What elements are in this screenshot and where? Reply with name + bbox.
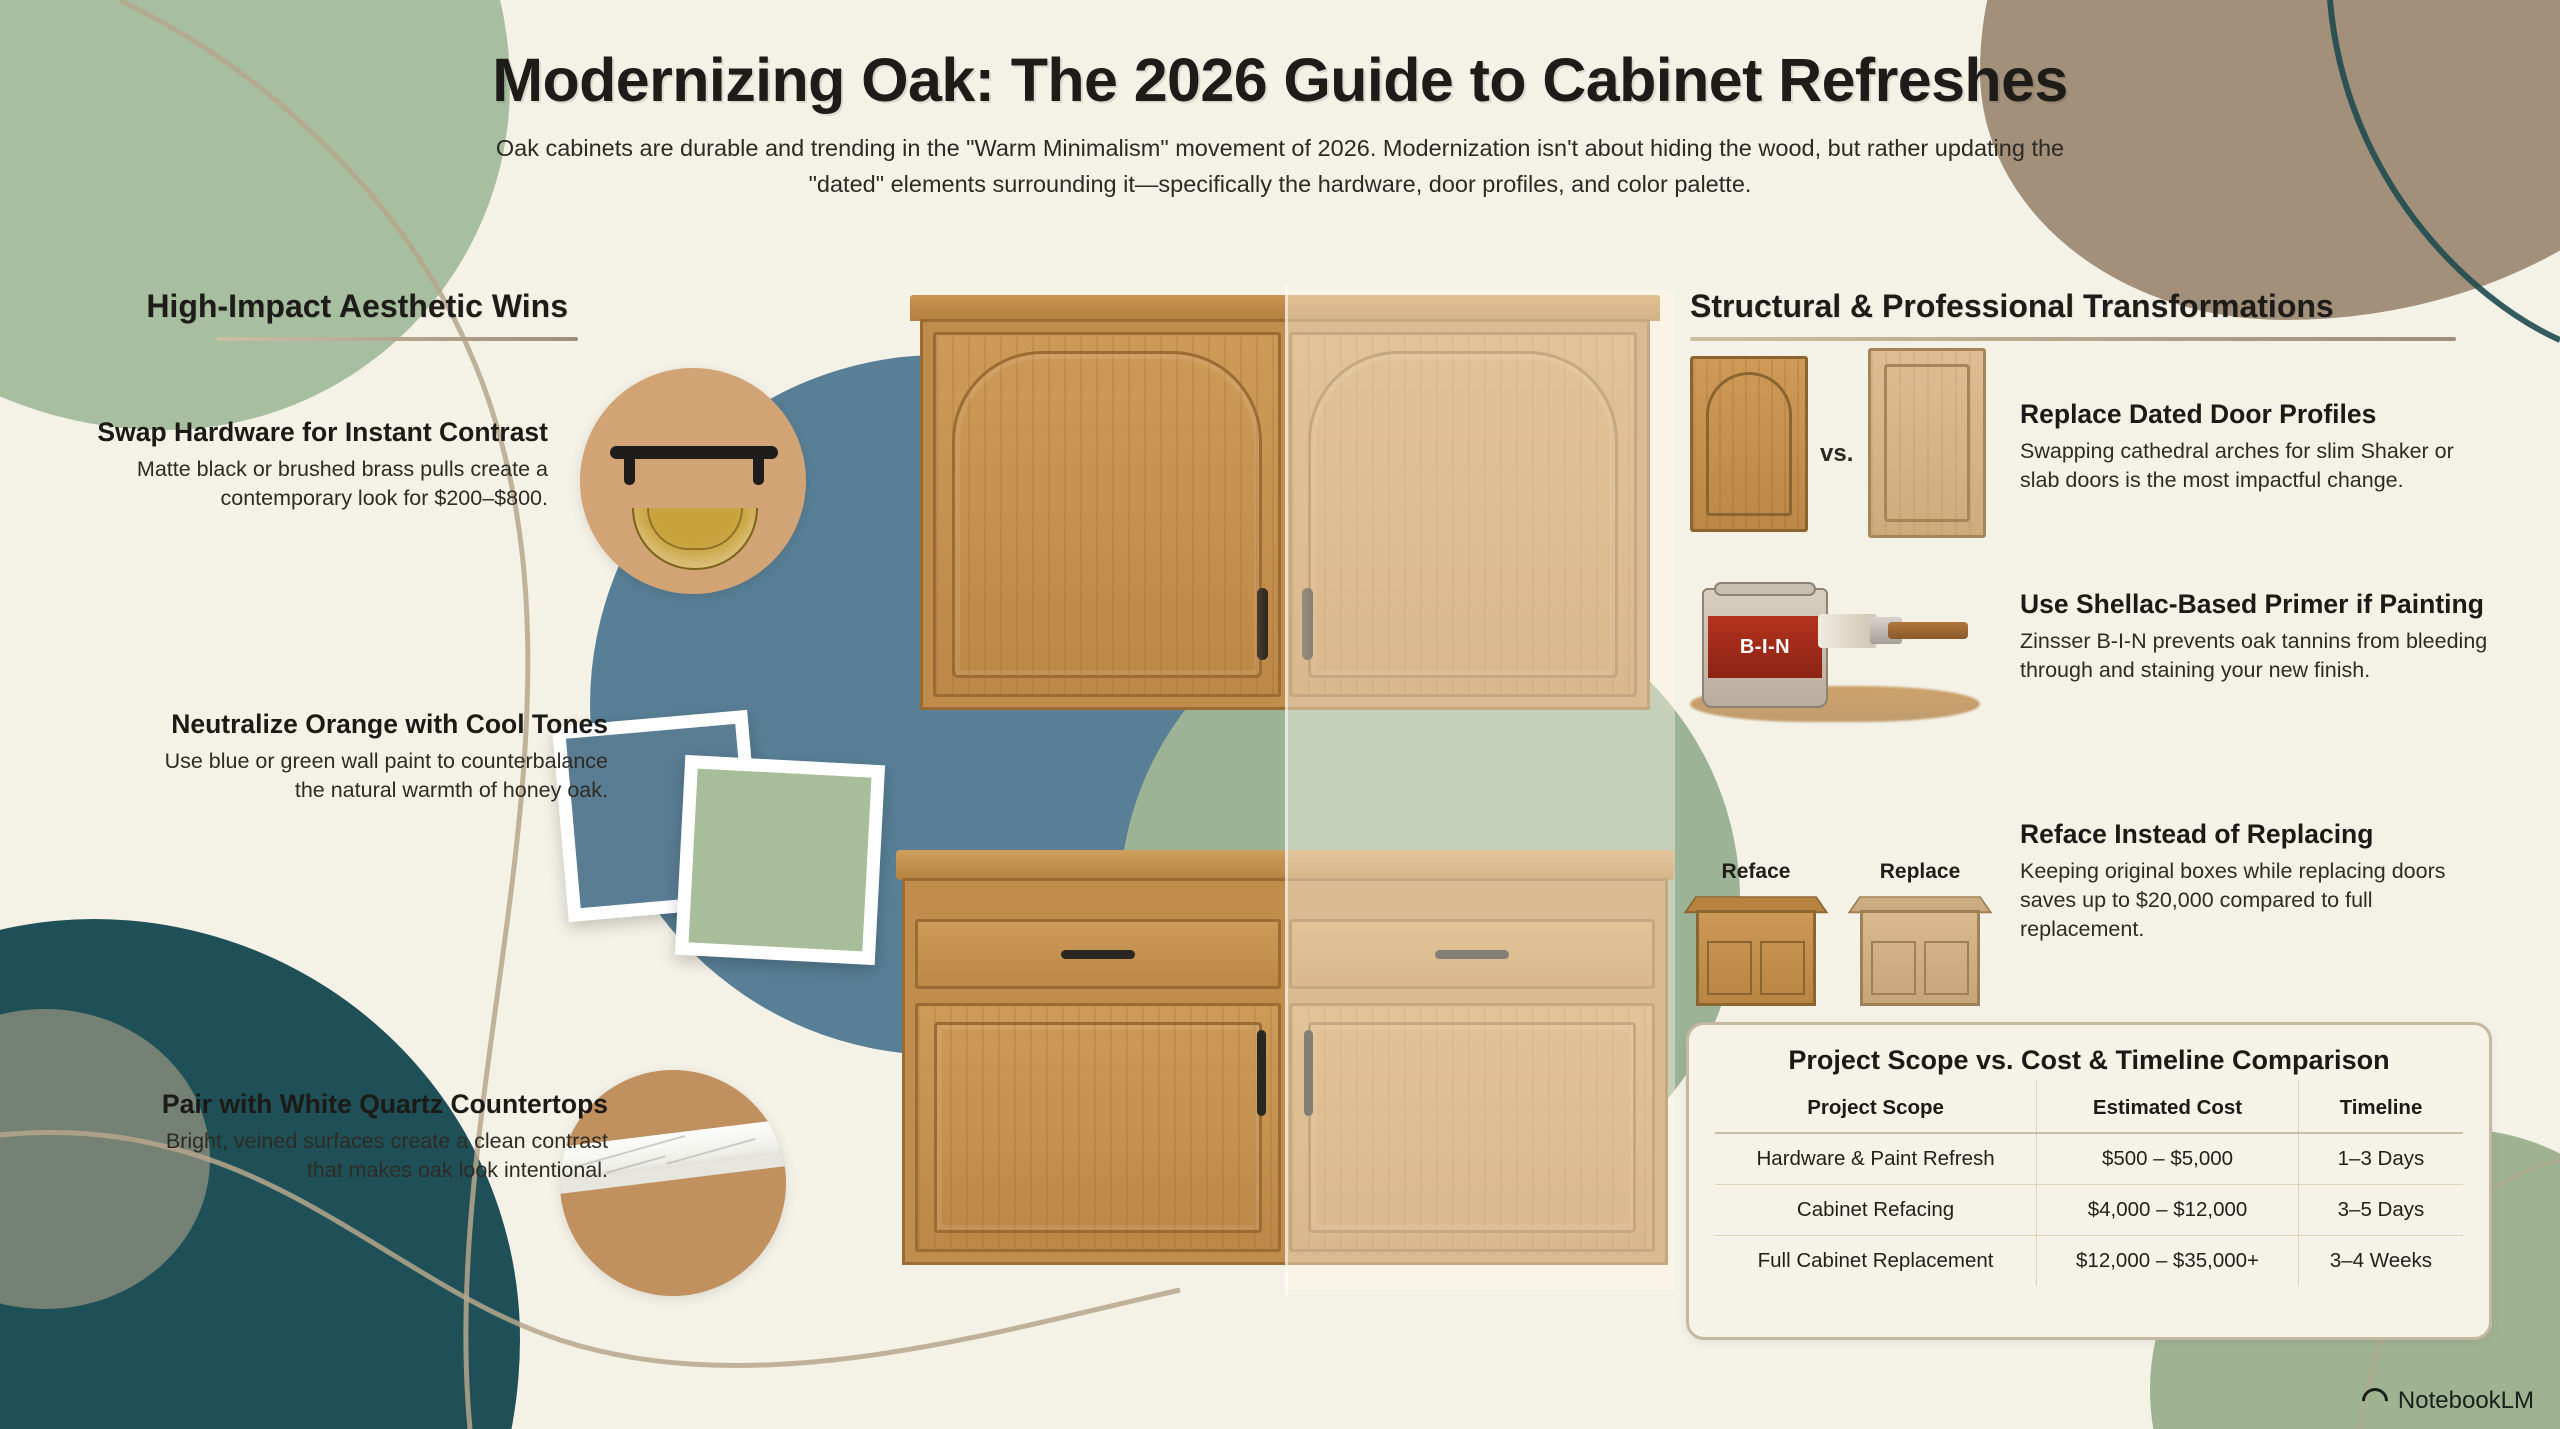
table-row: Full Cabinet Replacement $12,000 – $35,0… <box>1715 1236 2463 1287</box>
primer-can-icon: B-I-N <box>1702 588 1828 708</box>
table-title: Project Scope vs. Cost & Timeline Compar… <box>1715 1045 2463 1076</box>
cost-timeline-table: Project Scope Estimated Cost Timeline Ha… <box>1715 1080 2463 1286</box>
replace-box-illustration: Replace <box>1860 894 1980 1006</box>
item-reface-instead-of-replacing: Reface Instead of Replacing Keeping orig… <box>2020 818 2470 943</box>
drawer-left <box>915 919 1281 989</box>
cell-scope: Cabinet Refacing <box>1715 1185 2037 1236</box>
cell-scope: Full Cabinet Replacement <box>1715 1236 2037 1287</box>
right-column: Structural & Professional Transformation… <box>1690 288 2480 341</box>
page-title: Modernizing Oak: The 2026 Guide to Cabin… <box>0 48 2560 112</box>
cell-timeline: 1–3 Days <box>2298 1133 2463 1185</box>
notebooklm-swirl-icon <box>2357 1383 2394 1420</box>
right-column-rule <box>1690 337 2456 341</box>
reface-label: Reface <box>1696 860 1816 884</box>
item-body: Swapping cathedral arches for slim Shake… <box>2020 437 2490 494</box>
infographic-canvas: Modernizing Oak: The 2026 Guide to Cabin… <box>0 0 2560 1429</box>
matte-black-bar-pull-icon <box>610 446 778 459</box>
item-body: Zinsser B-I-N prevents oak tannins from … <box>2020 627 2500 684</box>
cell-timeline: 3–5 Days <box>2298 1185 2463 1236</box>
drawer-right <box>1289 919 1655 989</box>
item-replace-door-profiles: Replace Dated Door Profiles Swapping cat… <box>2020 398 2490 495</box>
header: Modernizing Oak: The 2026 Guide to Cabin… <box>0 48 2560 203</box>
column-header-estimated-cost: Estimated Cost <box>2037 1080 2299 1133</box>
left-column-rule <box>216 337 578 341</box>
item-white-quartz: Pair with White Quartz Countertops Brigh… <box>138 1088 608 1185</box>
item-title: Pair with White Quartz Countertops <box>138 1088 608 1120</box>
vs-label: vs. <box>1820 440 1853 468</box>
box-body <box>1860 910 1980 1006</box>
page-subtitle: Oak cabinets are durable and trending in… <box>460 130 2100 203</box>
cell-timeline: 3–4 Weeks <box>2298 1236 2463 1287</box>
cathedral-door-right <box>1289 332 1637 697</box>
cathedral-door-sample <box>1690 356 1808 532</box>
table-header-row: Project Scope Estimated Cost Timeline <box>1715 1080 2463 1133</box>
paint-swatch-green <box>675 755 885 965</box>
left-column-heading: High-Impact Aesthetic Wins <box>78 288 778 325</box>
item-body: Matte black or brushed brass pulls creat… <box>78 455 548 512</box>
reface-box-illustration: Reface <box>1696 894 1816 1006</box>
right-column-heading: Structural & Professional Transformation… <box>1690 288 2480 325</box>
cabinet-before-after-illustration <box>920 295 1650 1295</box>
cost-timeline-table-card: Project Scope vs. Cost & Timeline Compar… <box>1686 1022 2492 1340</box>
watermark-label: NotebookLM <box>2398 1387 2534 1415</box>
item-body: Keeping original boxes while replacing d… <box>2020 857 2470 943</box>
item-title: Use Shellac-Based Primer if Painting <box>2020 588 2500 620</box>
cell-cost: $500 – $5,000 <box>2037 1133 2299 1185</box>
hardware-pulls-photo <box>580 368 806 594</box>
item-title: Neutralize Orange with Cool Tones <box>138 708 608 740</box>
can-lid <box>1714 582 1816 596</box>
paint-brush-icon <box>1818 606 1968 668</box>
can-label-text: B-I-N <box>1740 636 1790 659</box>
item-body: Bright, veined surfaces create a clean c… <box>138 1127 608 1184</box>
cell-cost: $12,000 – $35,000+ <box>2037 1236 2299 1287</box>
shaker-door-sample <box>1868 348 1986 538</box>
item-neutralize-orange: Neutralize Orange with Cool Tones Use bl… <box>138 708 608 805</box>
item-title: Reface Instead of Replacing <box>2020 818 2470 850</box>
brass-cup-pull-icon <box>632 508 758 570</box>
can-label: B-I-N <box>1708 616 1822 678</box>
cell-cost: $4,000 – $12,000 <box>2037 1185 2299 1236</box>
notebooklm-watermark: NotebookLM <box>2362 1387 2534 1415</box>
item-swap-hardware: Swap Hardware for Instant Contrast Matte… <box>78 416 548 513</box>
item-body: Use blue or green wall paint to counterb… <box>138 747 608 804</box>
box-body <box>1696 910 1816 1006</box>
cell-scope: Hardware & Paint Refresh <box>1715 1133 2037 1185</box>
cathedral-door-left <box>933 332 1281 697</box>
item-title: Swap Hardware for Instant Contrast <box>78 416 548 448</box>
lower-door-right <box>1289 1003 1655 1252</box>
table-row: Hardware & Paint Refresh $500 – $5,000 1… <box>1715 1133 2463 1185</box>
lower-door-left <box>915 1003 1281 1252</box>
table-row: Cabinet Refacing $4,000 – $12,000 3–5 Da… <box>1715 1185 2463 1236</box>
column-header-project-scope: Project Scope <box>1715 1080 2037 1133</box>
item-title: Replace Dated Door Profiles <box>2020 398 2490 430</box>
column-header-timeline: Timeline <box>2298 1080 2463 1133</box>
replace-label: Replace <box>1860 860 1980 884</box>
before-after-split-line <box>1285 285 1288 1295</box>
left-column: High-Impact Aesthetic Wins Swap Hardware… <box>78 288 778 341</box>
item-shellac-primer: Use Shellac-Based Primer if Painting Zin… <box>2020 588 2500 685</box>
